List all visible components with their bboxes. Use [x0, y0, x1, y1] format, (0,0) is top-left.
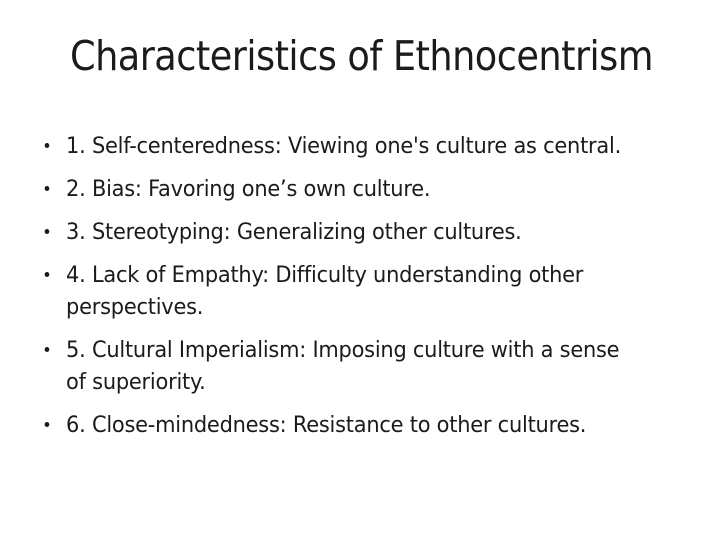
- list-item[interactable]: 6. Close-mindedness: Resistance to other…: [40, 409, 645, 441]
- list-item[interactable]: 2. Bias: Favoring one’s own culture.: [40, 173, 645, 205]
- presentation-slide: Characteristics of Ethnocentrism 1. Self…: [0, 0, 720, 539]
- page-title: Characteristics of Ethnocentrism: [70, 32, 607, 80]
- bullet-dot-icon: [45, 272, 50, 277]
- bullet-dot-icon: [45, 186, 50, 191]
- list-item-text: 1. Self-centeredness: Viewing one's cult…: [66, 130, 644, 162]
- bullet-list: 1. Self-centeredness: Viewing one's cult…: [40, 130, 690, 452]
- bullet-dot-icon: [45, 143, 50, 148]
- bullet-dot-icon: [45, 229, 50, 234]
- bullet-dot-icon: [45, 422, 50, 427]
- list-item-text: 6. Close-mindedness: Resistance to other…: [66, 409, 644, 441]
- list-item[interactable]: 1. Self-centeredness: Viewing one's cult…: [40, 130, 645, 162]
- list-item[interactable]: 5. Cultural Imperialism: Imposing cultur…: [40, 334, 645, 398]
- list-item-text: 5. Cultural Imperialism: Imposing cultur…: [66, 334, 644, 398]
- list-item-text: 4. Lack of Empathy: Difficulty understan…: [66, 259, 644, 323]
- list-item[interactable]: 3. Stereotyping: Generalizing other cult…: [40, 216, 645, 248]
- list-item-text: 2. Bias: Favoring one’s own culture.: [66, 173, 644, 205]
- list-item[interactable]: 4. Lack of Empathy: Difficulty understan…: [40, 259, 645, 323]
- list-item-text: 3. Stereotyping: Generalizing other cult…: [66, 216, 644, 248]
- bullet-dot-icon: [45, 347, 50, 352]
